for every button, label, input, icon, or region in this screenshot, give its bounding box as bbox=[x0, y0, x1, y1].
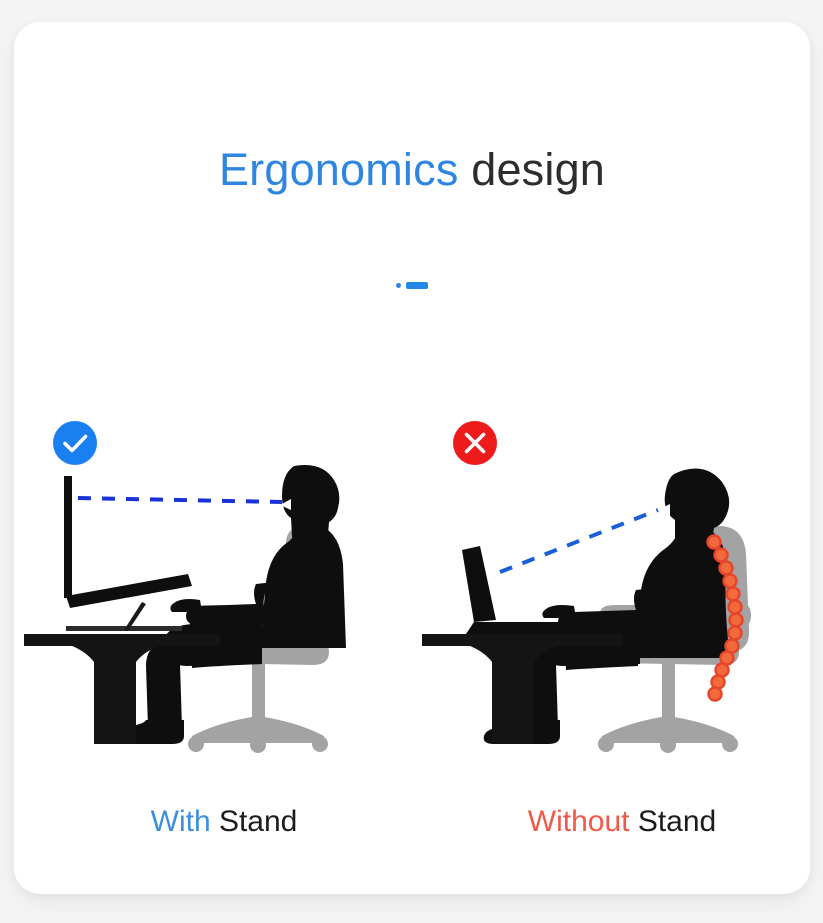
pain-point bbox=[708, 536, 721, 549]
laptop-screen bbox=[64, 476, 72, 598]
chair-cylinder bbox=[252, 662, 265, 724]
page-title: Ergonomics design bbox=[14, 144, 810, 196]
face-profile bbox=[658, 504, 670, 516]
laptop-base bbox=[66, 574, 192, 608]
caption-accent-without: Without bbox=[528, 805, 630, 838]
caption-without-stand: Without Stand bbox=[422, 805, 822, 839]
page-title-accent: Ergonomics bbox=[219, 144, 459, 195]
subtitle-mark bbox=[14, 278, 810, 292]
blue-dash-icon bbox=[406, 282, 428, 289]
chair-caster bbox=[660, 737, 676, 753]
chair-cylinder bbox=[662, 662, 675, 724]
page-title-rest: design bbox=[459, 144, 606, 195]
chair-caster bbox=[250, 737, 266, 753]
sightline bbox=[78, 498, 282, 502]
pain-point bbox=[730, 614, 743, 627]
shin bbox=[146, 644, 182, 728]
pain-point bbox=[715, 549, 728, 562]
caption-rest-with: Stand bbox=[211, 805, 298, 838]
screenshot-root: Ergonomics design bbox=[0, 0, 823, 923]
chair-caster bbox=[188, 736, 204, 752]
pain-point bbox=[709, 688, 722, 701]
pain-point bbox=[729, 627, 742, 640]
chair-caster bbox=[598, 736, 614, 752]
caption-rest-without: Stand bbox=[629, 805, 716, 838]
laptop-base bbox=[466, 622, 580, 634]
illustration-with-stand bbox=[24, 454, 424, 754]
pain-point bbox=[720, 562, 733, 575]
blue-dot-icon bbox=[396, 283, 401, 288]
illustration-without-stand bbox=[422, 454, 822, 754]
chair-caster bbox=[312, 736, 328, 752]
stand-base bbox=[66, 626, 182, 631]
pain-point bbox=[724, 575, 737, 588]
hand bbox=[542, 605, 576, 618]
hand bbox=[170, 599, 202, 612]
ergonomics-card: Ergonomics design bbox=[14, 22, 810, 894]
pain-point bbox=[729, 601, 742, 614]
chair-caster bbox=[722, 736, 738, 752]
caption-accent-with: With bbox=[151, 805, 211, 838]
caption-with-stand: With Stand bbox=[24, 805, 424, 839]
sightline bbox=[500, 510, 658, 572]
pain-point bbox=[727, 588, 740, 601]
laptop-screen bbox=[462, 546, 496, 622]
torso bbox=[262, 512, 346, 648]
